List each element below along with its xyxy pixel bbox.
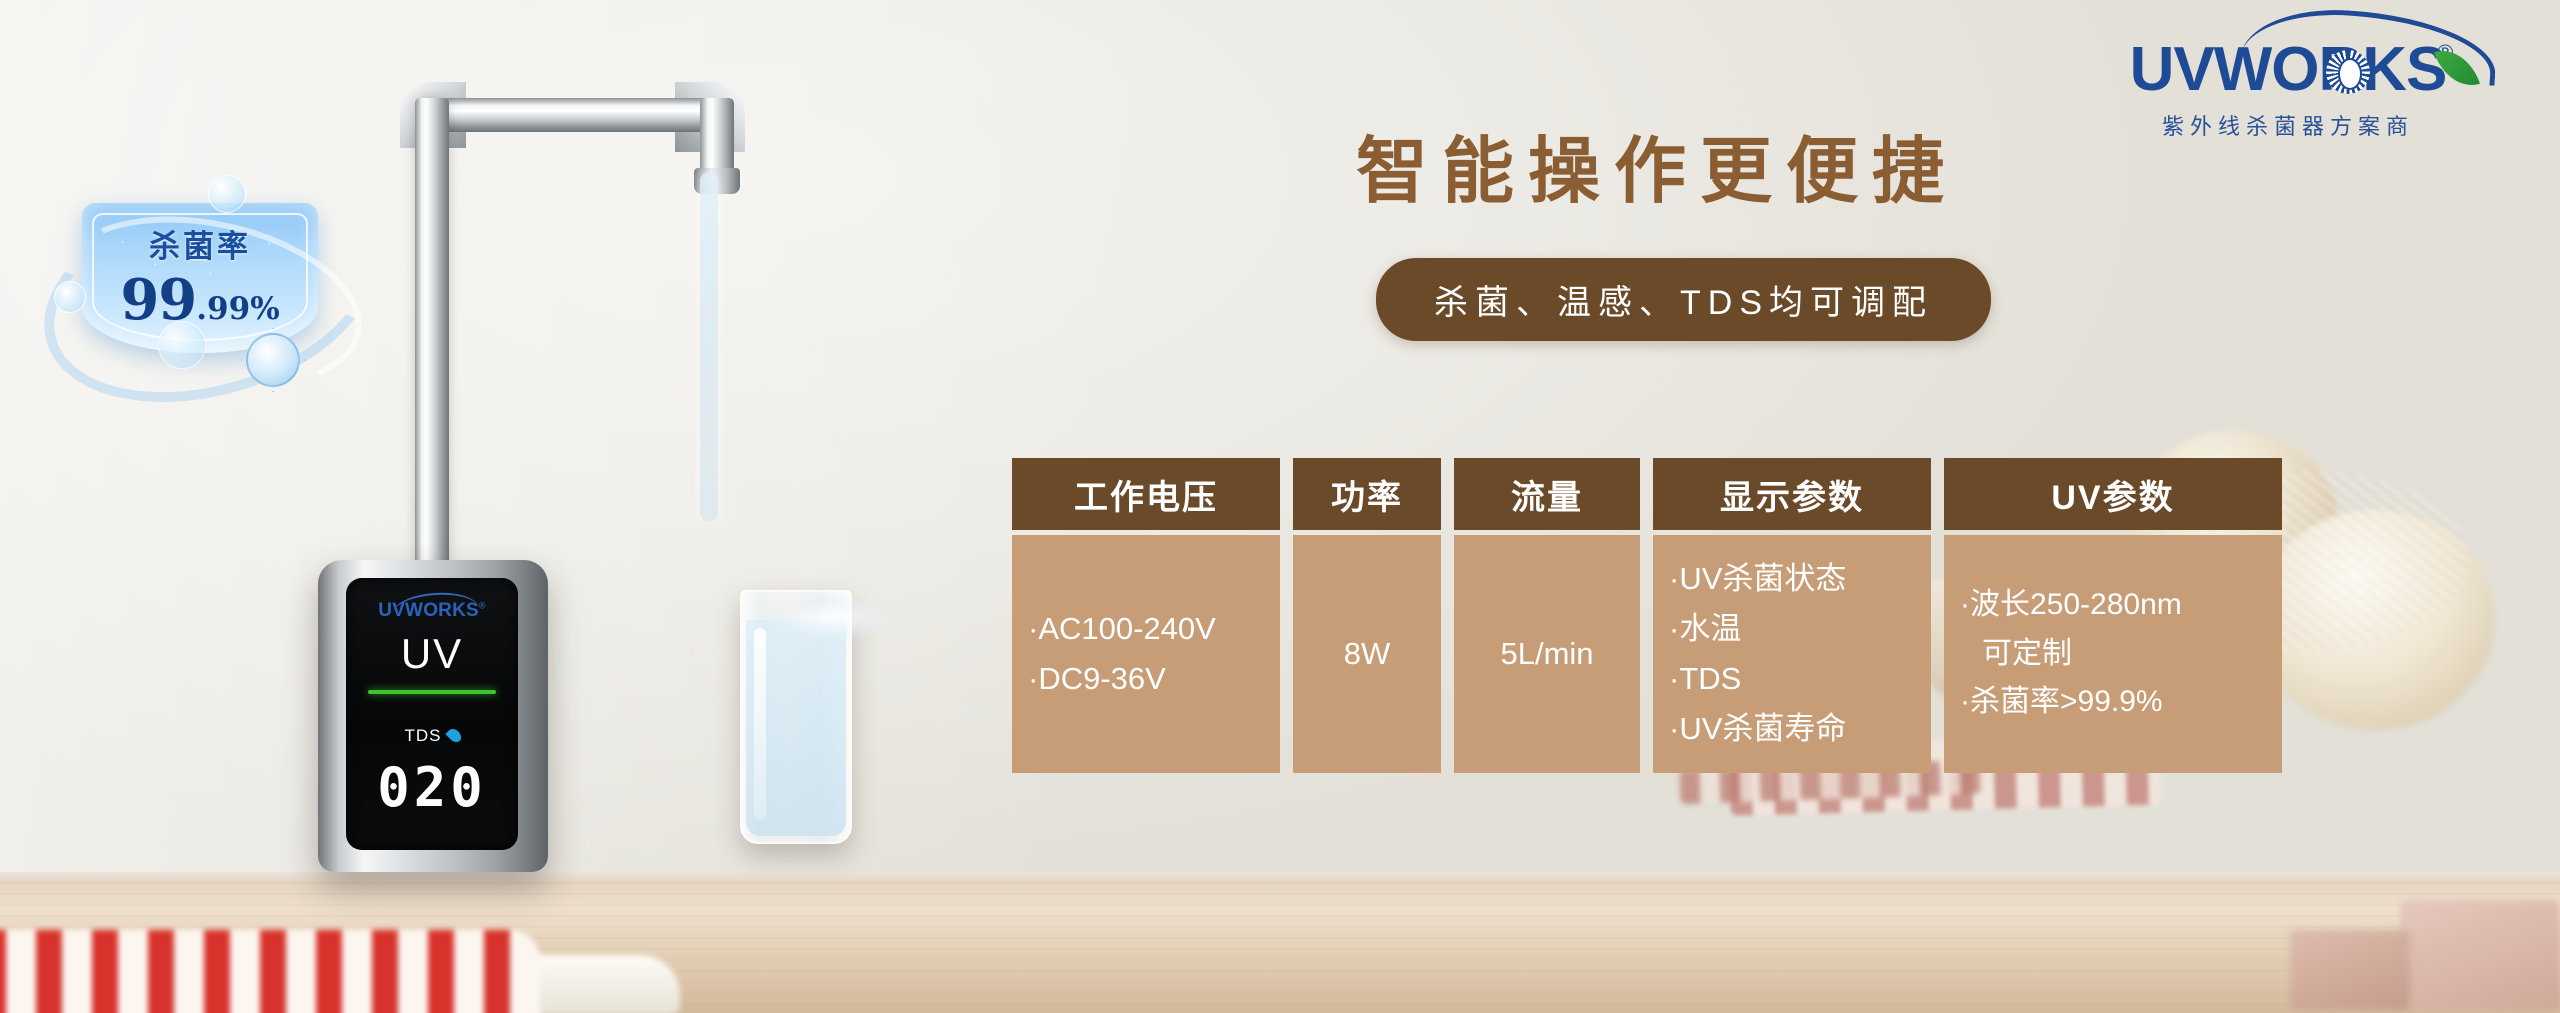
spec-cell-1: ·AC100-240V·DC9-36V [1012,535,1280,773]
spec-line: ·水温 [1669,604,1915,654]
bubble-icon-1 [208,175,246,213]
product-banner: UVWORKS® UV TDS 020 杀菌率 99.99% [0,0,2560,1013]
spec-line: ·波长250-280nm [1960,581,2266,630]
device-brand-logo: UVWORKS® [346,600,518,622]
device-tds-row: TDS [346,726,518,746]
spec-cell-2: 8W [1293,535,1441,773]
spec-cell-3: 5L/min [1454,535,1640,773]
device-tds-value: 020 [346,756,518,819]
device-logo-registered: ® [479,601,486,611]
bubble-icon-3 [158,321,206,369]
faucet-illustration [300,40,840,600]
device-status-bar [368,690,496,694]
spec-line: ·TDS [1669,654,1915,704]
water-drop-icon [445,726,463,744]
brand-wordmark-mid: O [2271,35,2318,104]
specification-table: 工作电压功率流量显示参数UV参数·AC100-240V·DC9-36V8W5L/… [1012,458,2312,773]
spec-header-1: 工作电压 [1012,458,1280,530]
spec-header-3: 流量 [1454,458,1640,530]
spec-line: ·杀菌率>99.9% [1960,678,2266,727]
spec-line: 8W [1344,629,1391,679]
spec-header-4: 显示参数 [1653,458,1931,530]
faucet-vertical-column [415,98,449,618]
pink-box-prop [2400,900,2560,1010]
device-mode-label: UV [346,630,518,678]
spec-line: ·DC9-36V [1028,654,1264,704]
badge-percentage: 99.99% [40,267,360,333]
badge-percent-minor: .99% [196,291,279,327]
spec-line: ·AC100-240V [1028,604,1264,654]
device-tds-label: TDS [405,726,442,745]
spec-line: ·UV杀菌状态 [1669,554,1915,604]
device-display-screen: UVWORKS® UV TDS 020 [346,578,518,850]
spec-line: 可定制 [1960,630,2266,679]
brand-wordmark-post: RKS [2318,35,2446,104]
spec-cell-5: ·波长250-280nm可定制·杀菌率>99.9% [1944,535,2282,773]
page-title: 智能操作更便捷 [1356,112,1958,217]
faucet-horizontal-arm [415,98,715,132]
glass-highlight [754,628,766,820]
sterilization-rate-badge: 杀菌率 99.99% [40,175,360,400]
spec-header-5: UV参数 [1944,458,2282,530]
spec-line: ·UV杀菌寿命 [1669,704,1915,754]
brand-logo: UVWORKS ® 紫外线杀菌器方案商 [2078,34,2498,141]
brand-registered-icon: ® [2437,40,2452,66]
badge-label: 杀菌率 [40,221,360,266]
spec-line: 5L/min [1500,629,1593,679]
subtitle-pill: 杀菌、温感、TDS均可调配 [1376,258,1991,341]
spec-cell-4: ·UV杀菌状态·水温·TDS·UV杀菌寿命 [1653,535,1931,773]
counter-shadow [0,872,2560,910]
red-checkered-towel-prop [0,930,540,1013]
brand-tagline: 紫外线杀菌器方案商 [2078,109,2498,141]
germ-icon [246,333,300,387]
device-logo-text: UVWORKS [378,600,479,621]
water-splash [770,596,890,640]
spec-header-2: 功率 [1293,458,1441,530]
uv-sterilizer-device: UVWORKS® UV TDS 020 [318,560,548,872]
bubble-icon-2 [54,281,86,313]
pink-box-prop-2 [2290,930,2410,1010]
brand-wordmark-pre: UVW [2130,35,2272,104]
water-stream [700,172,718,522]
brand-wordmark: UVWORKS ® [2130,34,2447,105]
